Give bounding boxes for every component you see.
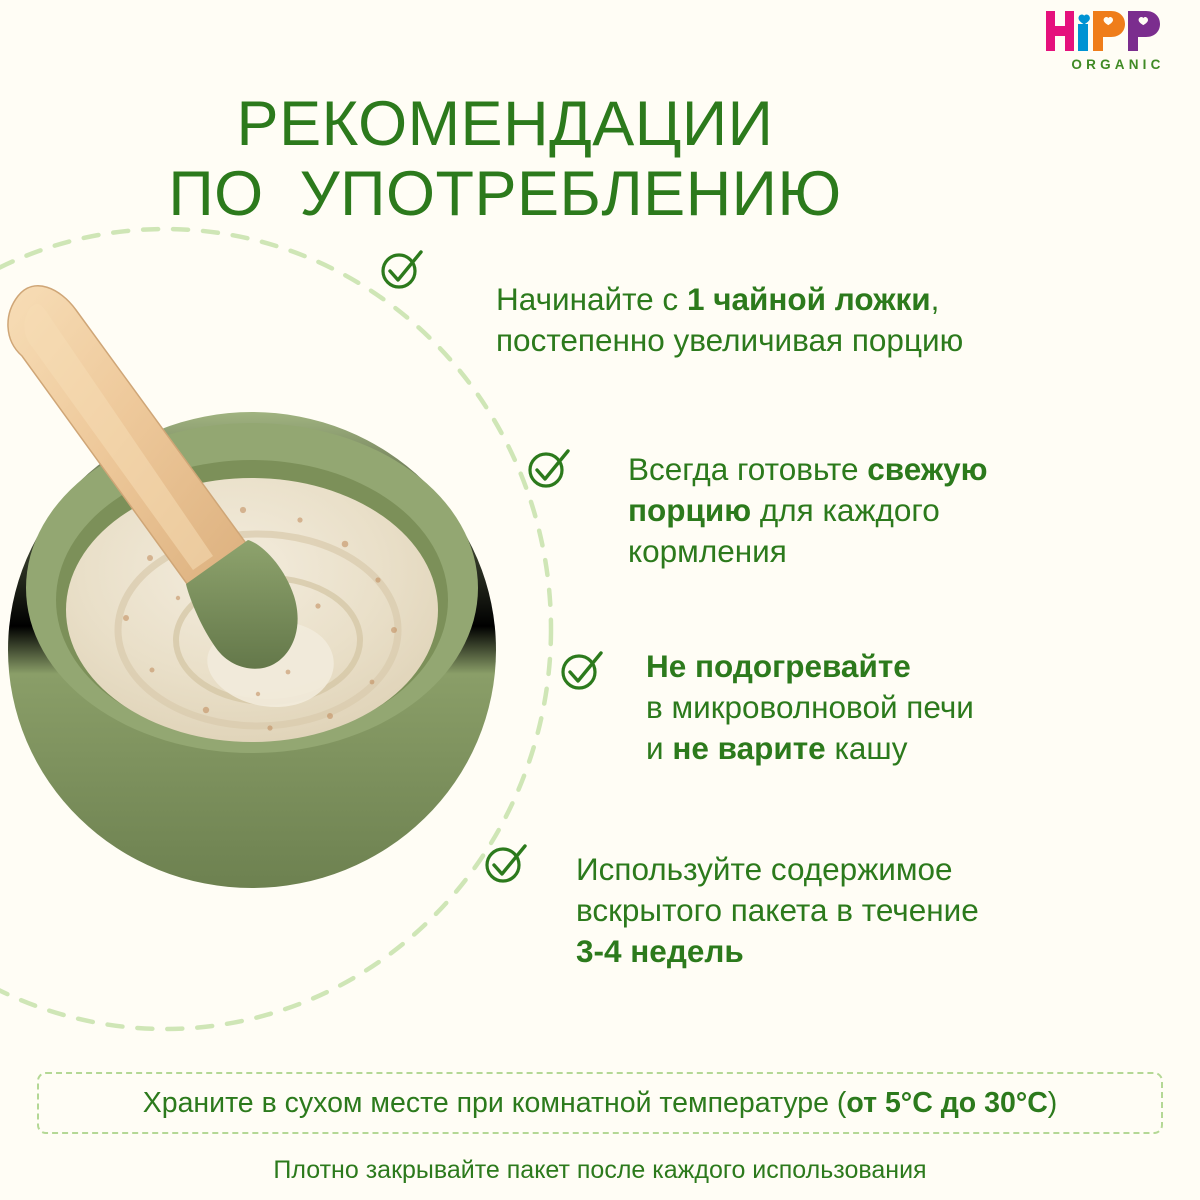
rec1-seg1: Начинайте с [496, 281, 687, 317]
recommendation-item-3: Не подогревайте в микроволновой печи и н… [558, 605, 974, 769]
closing-note: Плотно закрывайте пакет после каждого ис… [0, 1156, 1200, 1185]
storage-seg1: Храните в сухом месте при комнатной темп… [143, 1087, 847, 1119]
page-title: РЕКОМЕНДАЦИИ ПО УПОТРЕБЛЕНИЮ [0, 90, 1010, 229]
logo-letter-h [1046, 11, 1074, 51]
logo-letter-i [1078, 15, 1090, 52]
check-circle-icon [378, 246, 424, 292]
recommendation-item-1: Начинайте с 1 чайной ложки, постепенно у… [378, 238, 963, 361]
page-title-line-2: ПО УПОТРЕБЛЕНИЮ [0, 160, 1010, 229]
rec1-seg2: 1 чайной ложки [687, 281, 931, 317]
heart-icon [1079, 15, 1090, 25]
hipp-logo-mark [1046, 8, 1174, 54]
recommendation-text-4: Используйте содержимое вскрытого пакета … [576, 808, 979, 972]
logo-letter-p-orange [1093, 11, 1125, 51]
storage-instruction-text: Храните в сухом месте при комнатной темп… [143, 1087, 1058, 1120]
recommendation-item-4: Используйте содержимое вскрытого пакета … [482, 808, 979, 972]
recommendation-item-2: Всегда готовьте свежую порцию для каждог… [525, 408, 988, 572]
rec3-seg1: Не подогревайте [646, 648, 911, 684]
recommendation-text-2: Всегда готовьте свежую порцию для каждог… [628, 408, 988, 572]
recommendation-text-3: Не подогревайте в микроволновой печи и н… [646, 605, 974, 769]
storage-seg3: ) [1048, 1087, 1058, 1119]
recommendations-infographic: ORGANIC РЕКОМЕНДАЦИИ ПО УПОТРЕБЛЕНИЮ [0, 0, 1200, 1200]
storage-instruction-box: Храните в сухом месте при комнатной темп… [37, 1072, 1163, 1134]
check-circle-icon [558, 647, 604, 693]
rec2-seg1: Всегда готовьте [628, 451, 867, 487]
check-circle-icon [525, 445, 571, 491]
storage-seg2: от 5°C до 30°C [846, 1087, 1047, 1119]
page-title-line-1: РЕКОМЕНДАЦИИ [0, 90, 1010, 159]
check-circle-icon [482, 840, 528, 886]
rec4-seg1: Используйте содержимое вскрытого пакета … [576, 851, 979, 928]
logo-letter-p-purple [1128, 11, 1160, 51]
hipp-organic-logo: ORGANIC [1046, 8, 1186, 80]
recommendation-text-1: Начинайте с 1 чайной ложки, постепенно у… [496, 238, 963, 361]
rec4-seg2: 3-4 недель [576, 933, 744, 969]
rec3-seg3: не варите [672, 730, 825, 766]
logo-tagline: ORGANIC [1046, 57, 1186, 72]
rec3-seg4: кашу [826, 730, 908, 766]
